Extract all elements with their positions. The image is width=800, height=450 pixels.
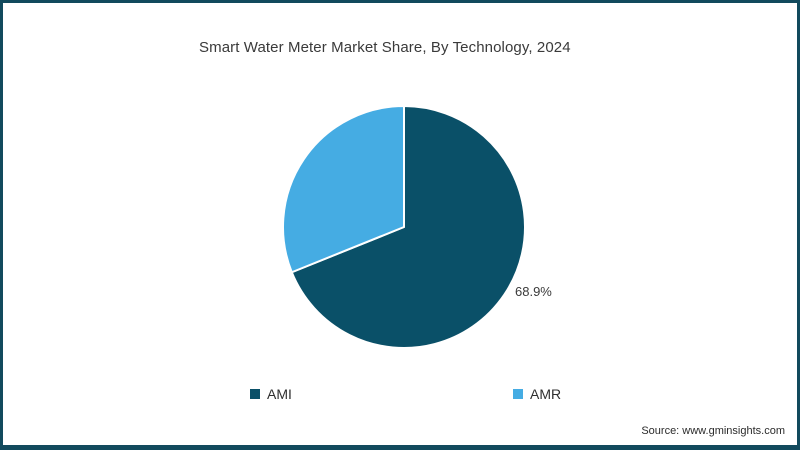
pie-chart-svg — [3, 3, 800, 450]
pie-data-label-ami: 68.9% — [515, 284, 552, 299]
legend-label-amr: AMR — [530, 386, 561, 402]
legend-item-amr[interactable]: AMR — [513, 385, 561, 403]
pie-slice-group — [283, 106, 525, 348]
legend-swatch-icon-ami — [250, 389, 260, 399]
legend-item-ami[interactable]: AMI — [250, 385, 292, 403]
chart-legend: AMI AMR — [3, 385, 800, 405]
legend-swatch-icon-amr — [513, 389, 523, 399]
pie-chart-plot-area: 68.9% — [3, 3, 800, 450]
chart-figure: Smart Water Meter Market Share, By Techn… — [0, 0, 800, 450]
source-note: Source: www.gminsights.com — [641, 425, 785, 437]
legend-label-ami: AMI — [267, 386, 292, 402]
